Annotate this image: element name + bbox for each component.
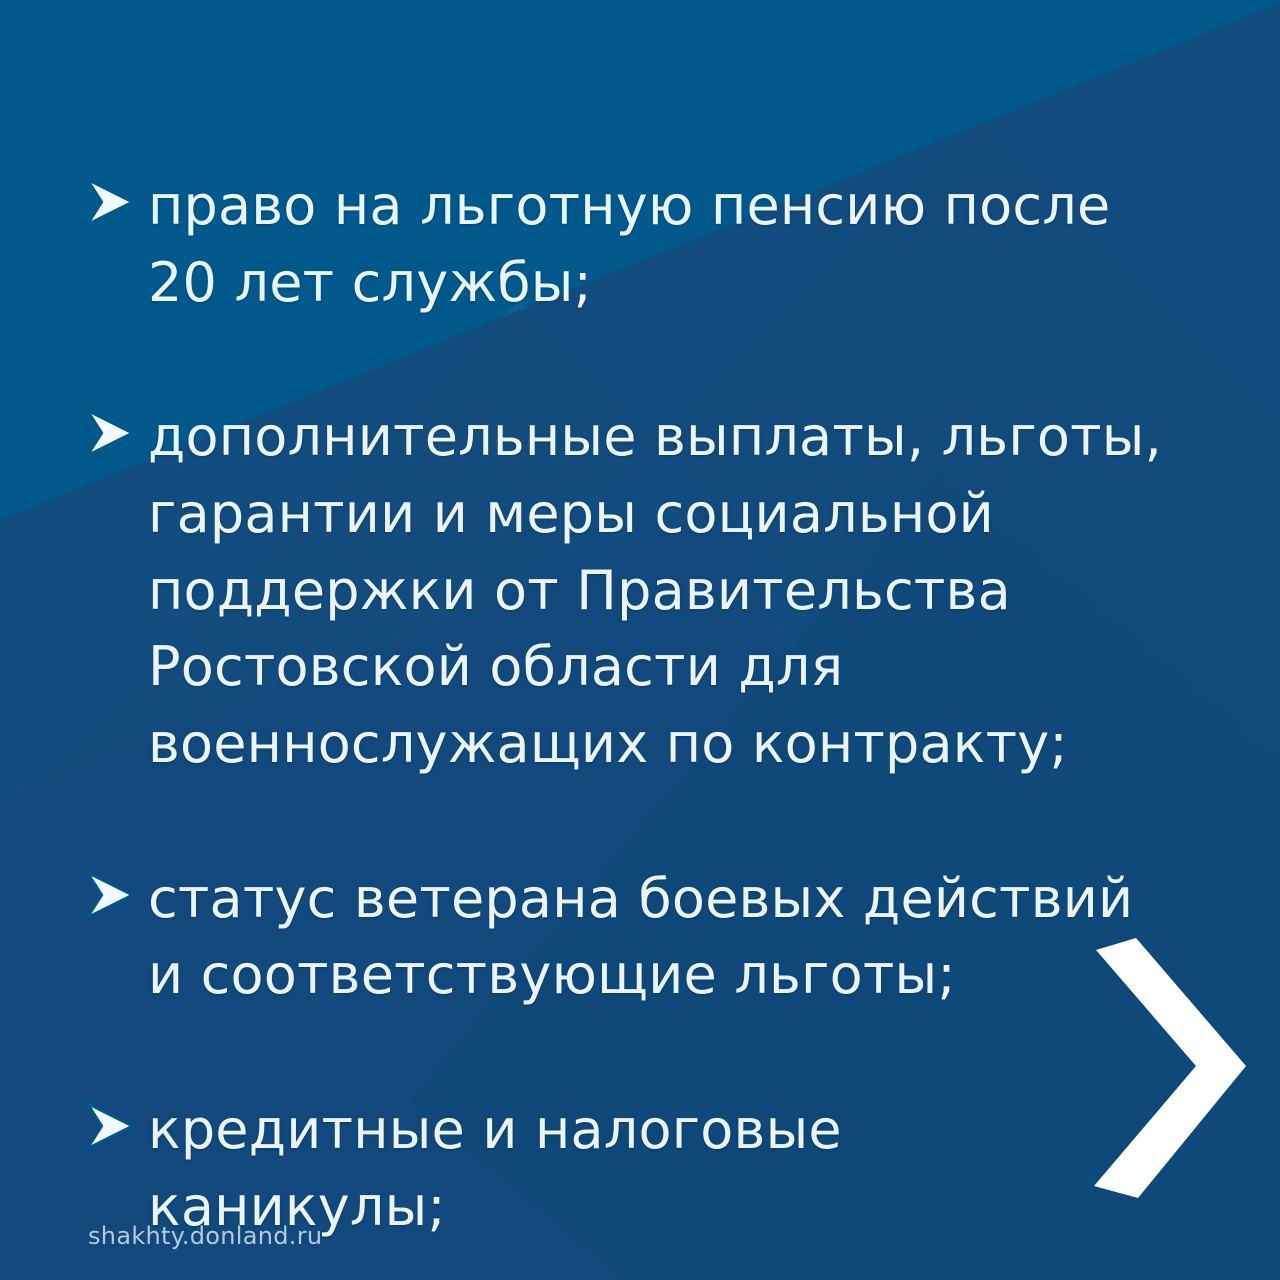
arrowhead-bullet-icon [82, 869, 136, 921]
list-item-label: право на льготную пенсию после 20 лет сл… [148, 168, 1178, 321]
list-item-label: статус ветерана боевых действий и соотве… [148, 861, 1178, 1014]
slide-content: право на льготную пенсию после 20 лет сл… [0, 0, 1280, 1280]
arrowhead-bullet-icon [82, 1100, 136, 1152]
benefits-bullet-list: право на льготную пенсию после 20 лет сл… [78, 168, 1178, 1245]
chevron-right-icon[interactable] [1078, 938, 1250, 1200]
list-item-label: дополнительные выплаты, льготы, гарантии… [148, 399, 1178, 782]
slide-canvas: право на льготную пенсию после 20 лет сл… [0, 0, 1280, 1280]
site-url-label: shakhty.donland.ru [88, 1222, 322, 1250]
arrowhead-bullet-icon [82, 407, 136, 459]
arrowhead-bullet-icon [82, 176, 136, 228]
list-item: право на льготную пенсию после 20 лет сл… [78, 168, 1178, 321]
list-item: дополнительные выплаты, льготы, гарантии… [78, 399, 1178, 782]
list-item: статус ветерана боевых действий и соотве… [78, 861, 1178, 1014]
